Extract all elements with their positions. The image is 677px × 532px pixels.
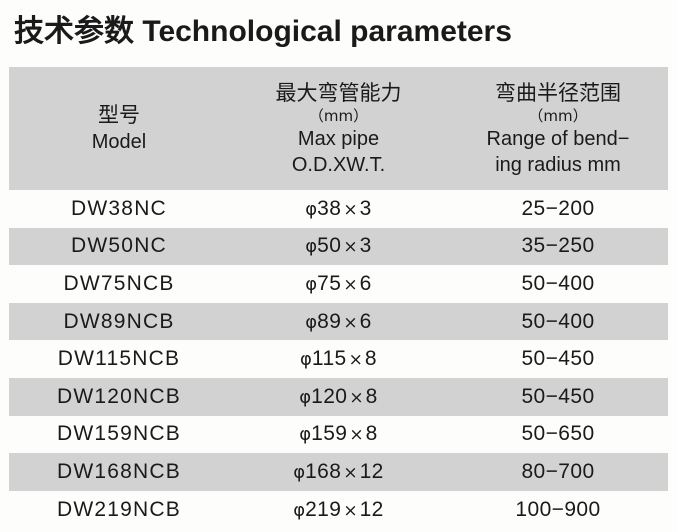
model-value: DW89NCB [63, 310, 174, 333]
cell-radius: 35−250 [448, 228, 668, 266]
phi-symbol: φ [305, 199, 317, 220]
radius-value: 50−650 [521, 422, 594, 445]
multiply-symbol: × [341, 275, 359, 295]
multiply-symbol: × [347, 388, 365, 408]
cell-radius: 50−450 [448, 340, 668, 378]
column-header-bending-radius-chinese: 弯曲半径范围 [448, 80, 668, 107]
cell-radius: 25−200 [448, 190, 668, 228]
outer-diameter: 159 [311, 422, 347, 445]
column-header-max-pipe: 最大弯管能力 （mm） Max pipe O.D.XW.T. [229, 67, 448, 190]
outer-diameter: 115 [312, 347, 347, 370]
title-bar: 技术参数 Technological parameters [0, 0, 677, 60]
multiply-symbol: × [341, 237, 359, 257]
capacity-value: φ120×8 [299, 385, 377, 408]
column-header-max-pipe-english-line2: O.D.XW.T. [229, 152, 448, 178]
table-row: DW168NCB φ168×12 80−700 [9, 453, 668, 491]
cell-capacity: φ38×3 [229, 190, 448, 228]
column-header-bending-radius-unit: （mm） [448, 107, 668, 126]
multiply-symbol: × [341, 313, 359, 333]
cell-model: DW89NCB [9, 303, 229, 341]
cell-model: DW219NCB [9, 491, 229, 529]
multiply-symbol: × [341, 463, 359, 483]
cell-model: DW168NCB [9, 453, 229, 491]
cell-capacity: φ159×8 [229, 416, 448, 454]
wall-thickness: 6 [360, 310, 372, 333]
table-body: 型号 Model 最大弯管能力 （mm） Max pipe O.D.XW.T. … [9, 67, 668, 528]
wall-thickness: 12 [360, 460, 384, 483]
column-header-max-pipe-english-line1: Max pipe [229, 126, 448, 152]
capacity-value: φ89×6 [305, 310, 371, 333]
table-row: DW115NCB φ115×8 50−450 [9, 340, 668, 378]
table-row: DW89NCB φ89×6 50−400 [9, 303, 668, 341]
radius-value: 50−400 [521, 310, 594, 333]
page-title-english: Technological parameters [142, 15, 512, 48]
wall-thickness: 8 [366, 385, 378, 408]
capacity-value: φ159×8 [299, 422, 377, 445]
capacity-value: φ115×8 [300, 347, 377, 370]
column-header-model-english: Model [9, 129, 229, 155]
outer-diameter: 168 [305, 460, 341, 483]
multiply-symbol: × [341, 200, 359, 220]
outer-diameter: 38 [317, 197, 341, 220]
cell-radius: 50−400 [448, 265, 668, 303]
phi-symbol: φ [305, 312, 317, 333]
multiply-symbol: × [347, 425, 365, 445]
cell-radius: 80−700 [448, 453, 668, 491]
column-header-max-pipe-unit: （mm） [229, 107, 448, 126]
cell-radius: 50−450 [448, 378, 668, 416]
phi-symbol: φ [299, 424, 311, 445]
table-row: DW219NCB φ219×12 100−900 [9, 491, 668, 529]
cell-radius: 100−900 [448, 491, 668, 529]
radius-value: 25−200 [521, 197, 594, 220]
cell-radius: 50−650 [448, 416, 668, 454]
cell-model: DW120NCB [9, 378, 229, 416]
cell-model: DW38NC [9, 190, 229, 228]
multiply-symbol: × [347, 350, 365, 370]
cell-capacity: φ50×3 [229, 228, 448, 266]
phi-symbol: φ [293, 462, 305, 483]
capacity-value: φ168×12 [293, 460, 384, 483]
column-header-max-pipe-chinese: 最大弯管能力 [229, 80, 448, 107]
model-value: DW219NCB [57, 498, 181, 521]
column-header-bending-radius-english-line1: Range of bend− [448, 126, 668, 152]
capacity-value: φ219×12 [293, 498, 384, 521]
column-header-bending-radius: 弯曲半径范围 （mm） Range of bend− ing radius mm [448, 67, 668, 190]
cell-capacity: φ115×8 [229, 340, 448, 378]
phi-symbol: φ [299, 387, 311, 408]
cell-model: DW159NCB [9, 416, 229, 454]
cell-capacity: φ89×6 [229, 303, 448, 341]
outer-diameter: 120 [311, 385, 347, 408]
model-value: DW159NCB [57, 422, 181, 445]
wall-thickness: 12 [360, 498, 384, 521]
cell-capacity: φ219×12 [229, 491, 448, 529]
wall-thickness: 6 [360, 272, 372, 295]
cell-model: DW115NCB [9, 340, 229, 378]
page-title-chinese: 技术参数 [14, 14, 134, 49]
radius-value: 50−450 [521, 347, 594, 370]
cell-capacity: φ168×12 [229, 453, 448, 491]
column-header-bending-radius-english-line2: ing radius mm [448, 152, 668, 178]
multiply-symbol: × [341, 501, 359, 521]
capacity-value: φ75×6 [305, 272, 371, 295]
capacity-value: φ50×3 [305, 234, 371, 257]
phi-symbol: φ [305, 236, 317, 257]
model-value: DW168NCB [57, 460, 181, 483]
radius-value: 100−900 [515, 498, 600, 521]
model-value: DW115NCB [58, 347, 180, 370]
model-value: DW75NCB [63, 272, 174, 295]
table-header-row: 型号 Model 最大弯管能力 （mm） Max pipe O.D.XW.T. … [9, 67, 668, 190]
phi-symbol: φ [305, 274, 317, 295]
column-header-model-chinese: 型号 [9, 102, 229, 129]
model-value: DW38NC [71, 197, 167, 220]
wall-thickness: 3 [360, 197, 372, 220]
wall-thickness: 3 [360, 234, 372, 257]
page-title: 技术参数 Technological parameters [14, 14, 512, 50]
wall-thickness: 8 [366, 422, 378, 445]
radius-value: 50−450 [521, 385, 594, 408]
cell-radius: 50−400 [448, 303, 668, 341]
wall-thickness: 8 [365, 347, 377, 370]
outer-diameter: 75 [317, 272, 341, 295]
phi-symbol: φ [300, 349, 312, 370]
model-value: DW120NCB [57, 385, 181, 408]
radius-value: 50−400 [521, 272, 594, 295]
radius-value: 80−700 [521, 460, 594, 483]
outer-diameter: 50 [317, 234, 341, 257]
radius-value: 35−250 [521, 234, 594, 257]
table-row: DW38NC φ38×3 25−200 [9, 190, 668, 228]
outer-diameter: 89 [317, 310, 341, 333]
outer-diameter: 219 [305, 498, 341, 521]
table-row: DW50NC φ50×3 35−250 [9, 228, 668, 266]
cell-capacity: φ75×6 [229, 265, 448, 303]
specifications-table: 型号 Model 最大弯管能力 （mm） Max pipe O.D.XW.T. … [9, 67, 668, 528]
cell-model: DW50NC [9, 228, 229, 266]
table-row: DW75NCB φ75×6 50−400 [9, 265, 668, 303]
phi-symbol: φ [293, 500, 305, 521]
cell-capacity: φ120×8 [229, 378, 448, 416]
table-row: DW159NCB φ159×8 50−650 [9, 416, 668, 454]
capacity-value: φ38×3 [305, 197, 371, 220]
column-header-model: 型号 Model [9, 67, 229, 190]
table-row: DW120NCB φ120×8 50−450 [9, 378, 668, 416]
model-value: DW50NC [71, 234, 167, 257]
cell-model: DW75NCB [9, 265, 229, 303]
